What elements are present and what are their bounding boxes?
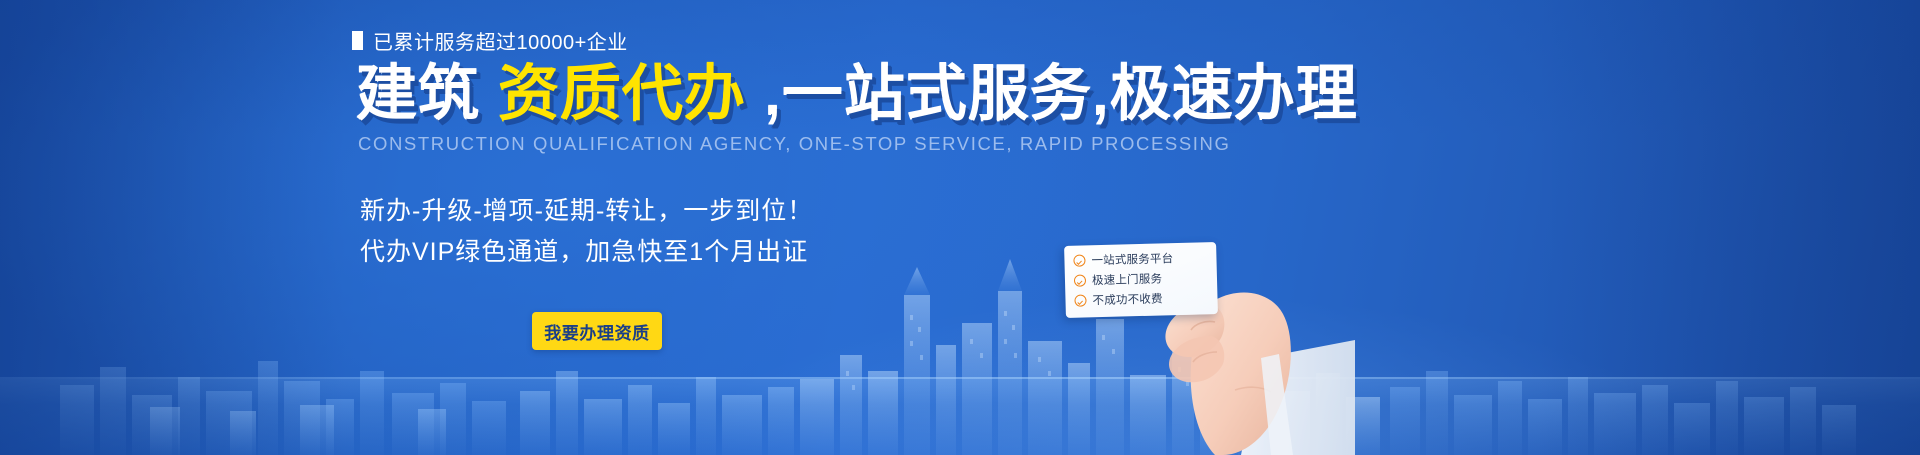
check-circle-icon	[1074, 274, 1086, 286]
promo-card-item: 一站式服务平台	[1073, 249, 1207, 269]
headline-part-1: 建筑	[356, 59, 480, 127]
feature-line-1: 新办-升级-增项-延期-转让，一步到位！	[360, 191, 1172, 232]
promo-card-item-label: 一站式服务平台	[1091, 250, 1173, 268]
check-circle-icon	[1074, 294, 1086, 306]
promo-card-item-label: 不成功不收费	[1092, 290, 1163, 308]
feature-lines: 新办-升级-增项-延期-转让，一步到位！ 代办VIP绿色通道，加急快至1个月出证	[360, 191, 1172, 272]
promo-card-item-label: 极速上门服务	[1092, 270, 1163, 288]
promo-card-item: 极速上门服务	[1074, 269, 1208, 289]
apply-qualification-button[interactable]: 我要办理资质	[532, 312, 662, 350]
square-bullet-icon	[352, 31, 363, 50]
eyebrow: 已累计服务超过10000+企业	[352, 26, 1172, 55]
page-title: 建筑 资质代办 ,一站式服务,极速办理	[356, 62, 1172, 124]
water-reflection	[0, 377, 1920, 455]
banner-content: 已累计服务超过10000+企业 建筑 资质代办 ,一站式服务,极速办理 CONS…	[352, 26, 1172, 272]
promo-card-item: 不成功不收费	[1074, 289, 1208, 309]
headline-part-3: ,一站式服务,极速办理	[764, 59, 1358, 127]
headline-highlight: 资质代办	[498, 59, 746, 127]
feature-line-2: 代办VIP绿色通道，加急快至1个月出证	[360, 232, 1172, 273]
subtitle-english: CONSTRUCTION QUALIFICATION AGENCY, ONE-S…	[358, 133, 1172, 155]
check-circle-icon	[1073, 254, 1085, 266]
hand-with-card-illustration: 一站式服务平台 极速上门服务 不成功不收费	[1065, 240, 1355, 455]
eyebrow-text: 已累计服务超过10000+企业	[373, 26, 628, 55]
promo-card: 一站式服务平台 极速上门服务 不成功不收费	[1064, 242, 1218, 318]
waterline	[0, 377, 1920, 379]
hero-banner: 已累计服务超过10000+企业 建筑 资质代办 ,一站式服务,极速办理 CONS…	[0, 0, 1920, 455]
